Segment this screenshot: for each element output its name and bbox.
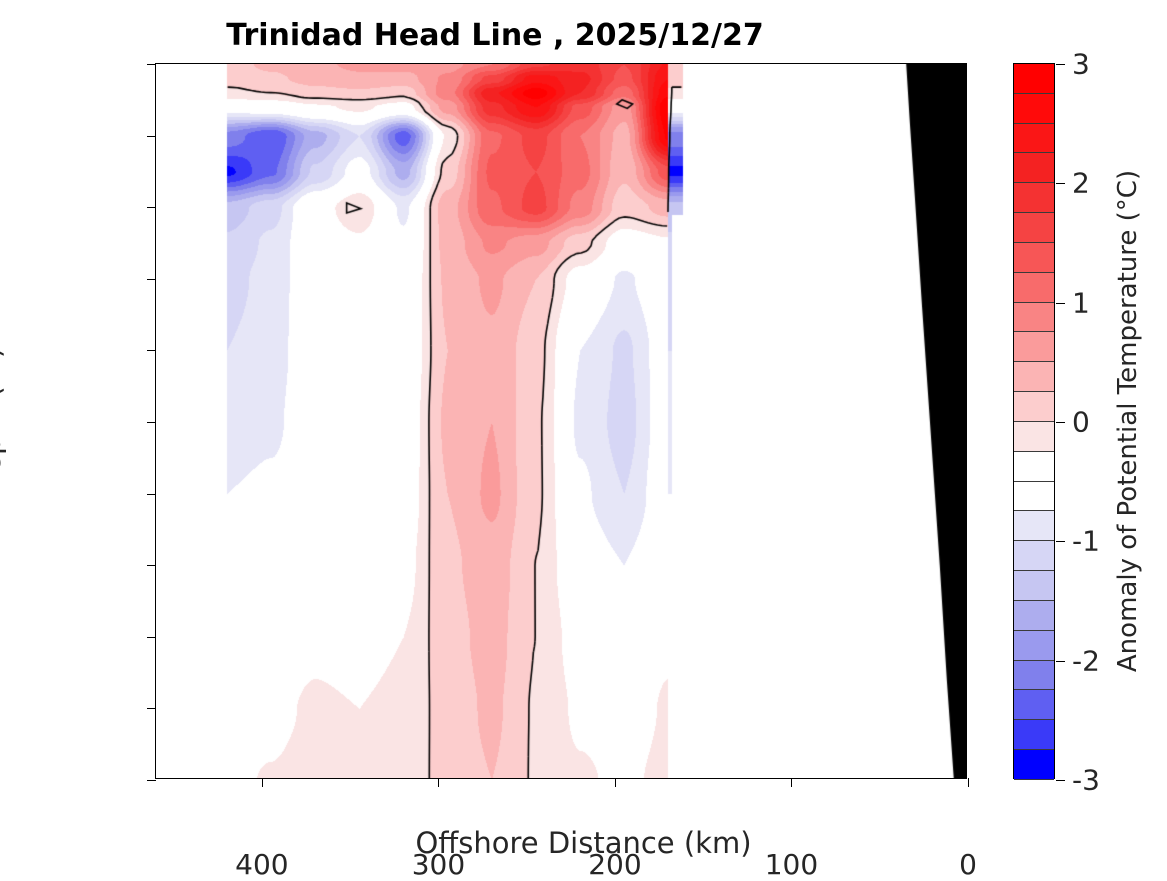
colorbar-tick xyxy=(1056,64,1065,65)
colorbar-tick xyxy=(1056,422,1065,423)
y-axis-tick xyxy=(147,350,156,351)
colorbar-block xyxy=(1014,64,1054,94)
colorbar-block xyxy=(1014,124,1054,154)
colorbar-tick-label: -3 xyxy=(1072,764,1100,797)
colorbar-block xyxy=(1014,690,1054,720)
y-axis-tick xyxy=(147,565,156,566)
colorbar-tick xyxy=(1056,183,1065,184)
colorbar-block xyxy=(1014,631,1054,661)
colorbar-block xyxy=(1014,243,1054,273)
y-axis-tick xyxy=(147,422,156,423)
colorbar-tick-label: 1 xyxy=(1072,286,1090,319)
colorbar-tick xyxy=(1056,661,1065,662)
colorbar-block xyxy=(1014,273,1054,303)
chart-title: Trinidad Head Line , 2025/12/27 xyxy=(0,18,990,53)
colorbar-block xyxy=(1014,571,1054,601)
colorbar-block xyxy=(1014,482,1054,512)
colorbar-block xyxy=(1014,362,1054,392)
colorbar-block xyxy=(1014,332,1054,362)
colorbar-block xyxy=(1014,183,1054,213)
y-axis-tick xyxy=(147,637,156,638)
y-axis-tick xyxy=(147,279,156,280)
y-axis-tick xyxy=(147,708,156,709)
contour-field xyxy=(156,64,966,778)
colorbar-tick-label: 2 xyxy=(1072,167,1090,200)
colorbar: 3210-1-2-3 xyxy=(1013,63,1055,779)
colorbar-block xyxy=(1014,511,1054,541)
figure-container: Trinidad Head Line , 2025/12/27 05010015… xyxy=(0,0,1167,875)
plot-axes: 0501001502002503003504004505004003002001… xyxy=(155,63,967,779)
y-axis-tick xyxy=(147,494,156,495)
colorbar-block xyxy=(1014,392,1054,422)
x-axis-label: Offshore Distance (km) xyxy=(0,826,1167,860)
colorbar-tick-label: -1 xyxy=(1072,525,1100,558)
colorbar-tick-label: -2 xyxy=(1072,644,1100,677)
colorbar-block xyxy=(1014,601,1054,631)
x-axis-tick xyxy=(438,778,439,787)
x-axis-tick xyxy=(968,778,969,787)
x-axis-tick xyxy=(615,778,616,787)
y-axis-tick xyxy=(147,780,156,781)
contour-canvas xyxy=(156,64,966,778)
y-axis-label: Depth (m) xyxy=(0,347,7,495)
x-axis-tick xyxy=(791,778,792,787)
colorbar-block xyxy=(1014,750,1054,780)
y-axis-tick xyxy=(147,136,156,137)
y-axis-tick xyxy=(147,207,156,208)
colorbar-title: Anomaly of Potential Temperature (°C) xyxy=(1113,170,1143,672)
colorbar-block xyxy=(1014,94,1054,124)
colorbar-tick xyxy=(1056,541,1065,542)
colorbar-block xyxy=(1014,661,1054,691)
colorbar-block xyxy=(1014,303,1054,333)
colorbar-block xyxy=(1014,213,1054,243)
x-axis-tick xyxy=(262,778,263,787)
colorbar-block xyxy=(1014,541,1054,571)
colorbar-tick-label: 3 xyxy=(1072,48,1090,81)
colorbar-block xyxy=(1014,422,1054,452)
colorbar-tick-label: 0 xyxy=(1072,406,1090,439)
colorbar-tick xyxy=(1056,780,1065,781)
colorbar-block xyxy=(1014,720,1054,750)
colorbar-tick xyxy=(1056,303,1065,304)
y-axis-tick xyxy=(147,64,156,65)
colorbar-block xyxy=(1014,153,1054,183)
colorbar-block xyxy=(1014,452,1054,482)
